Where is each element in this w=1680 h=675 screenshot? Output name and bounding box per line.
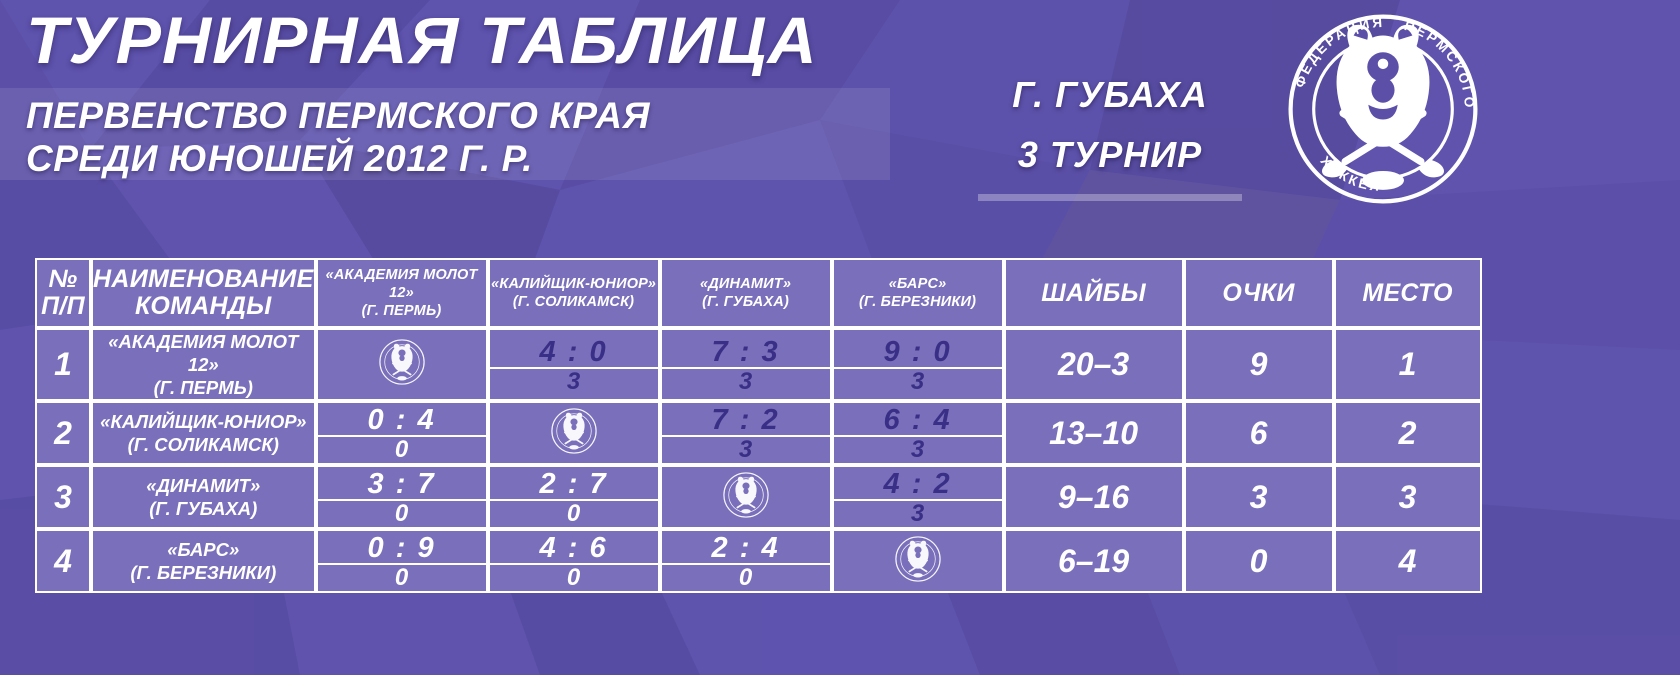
col-header-opponent-2: «КАЛИЙЩИК-ЮНИОР» (Г. СОЛИКАМСК) bbox=[488, 258, 660, 328]
row-number: 4 bbox=[35, 529, 91, 593]
col-header-opponent-1-l2: (Г. ПЕРМЬ) bbox=[318, 302, 486, 320]
match-score: 0 : 4 bbox=[318, 403, 486, 437]
match-cell[interactable]: 3 : 7 0 bbox=[316, 465, 488, 529]
match-cell-self bbox=[488, 401, 660, 465]
col-header-opponent-2-l2: (Г. СОЛИКАМСК) bbox=[490, 293, 658, 311]
row-place: 2 bbox=[1334, 401, 1482, 465]
row-points: 9 bbox=[1184, 328, 1334, 401]
row-pucks: 6–19 bbox=[1004, 529, 1184, 593]
tournament-info: Г. ГУБАХА 3 ТУРНИР bbox=[930, 72, 1290, 201]
row-team-name: «ДИНАМИТ» (Г. ГУБАХА) bbox=[91, 465, 316, 529]
table-row: 4 «БАРС» (Г. БЕРЕЗНИКИ) 0 : 9 0 4 : 6 0 … bbox=[35, 529, 1482, 593]
match-points: 3 bbox=[662, 369, 830, 395]
match-points: 0 bbox=[490, 501, 658, 527]
match-cell[interactable]: 7 : 2 3 bbox=[660, 401, 832, 465]
match-points: 3 bbox=[490, 369, 658, 395]
col-header-opponent-4-l1: «БАРС» bbox=[834, 275, 1002, 293]
match-cell[interactable]: 2 : 4 0 bbox=[660, 529, 832, 593]
col-header-place: МЕСТО bbox=[1334, 258, 1482, 328]
col-header-opponent-4-l2: (Г. БЕРЕЗНИКИ) bbox=[834, 293, 1002, 311]
match-cell[interactable]: 4 : 6 0 bbox=[488, 529, 660, 593]
match-cell[interactable]: 6 : 4 3 bbox=[832, 401, 1004, 465]
federation-logo-icon: ФЕДЕРАЦИЯ ПЕРМСКОГО КРАЯ ХОККЕЯ bbox=[1278, 4, 1488, 214]
match-points: 3 bbox=[834, 501, 1002, 527]
match-score: 2 : 7 bbox=[490, 467, 658, 501]
match-cell[interactable]: 2 : 7 0 bbox=[488, 465, 660, 529]
match-points: 0 bbox=[662, 565, 830, 591]
row-team-name-l2: (Г. ГУБАХА) bbox=[99, 497, 308, 520]
row-number: 1 bbox=[35, 328, 91, 401]
row-team-name-l2: (Г. БЕРЕЗНИКИ) bbox=[99, 561, 308, 584]
match-cell[interactable]: 9 : 0 3 bbox=[832, 328, 1004, 401]
match-cell[interactable]: 4 : 0 3 bbox=[488, 328, 660, 401]
col-header-opponent-1: «АКАДЕМИЯ МОЛОТ 12» (Г. ПЕРМЬ) bbox=[316, 258, 488, 328]
row-team-name-l2: (Г. СОЛИКАМСК) bbox=[99, 433, 308, 456]
col-header-pucks: ШАЙБЫ bbox=[1004, 258, 1184, 328]
match-points: 3 bbox=[662, 437, 830, 463]
row-place: 1 bbox=[1334, 328, 1482, 401]
match-score: 6 : 4 bbox=[834, 403, 1002, 437]
match-score: 4 : 2 bbox=[834, 467, 1002, 501]
row-pucks: 13–10 bbox=[1004, 401, 1184, 465]
match-points: 0 bbox=[318, 437, 486, 463]
page-title: ТУРНИРНАЯ ТАБЛИЦА bbox=[26, 4, 818, 76]
match-cell[interactable]: 7 : 3 3 bbox=[660, 328, 832, 401]
row-team-name: «АКАДЕМИЯ МОЛОТ 12» (Г. ПЕРМЬ) bbox=[91, 328, 316, 401]
table-row: 1 «АКАДЕМИЯ МОЛОТ 12» (Г. ПЕРМЬ) 4 : 0 3… bbox=[35, 328, 1482, 401]
row-team-name-l1: «ДИНАМИТ» bbox=[99, 474, 308, 497]
row-pucks: 20–3 bbox=[1004, 328, 1184, 401]
row-place: 3 bbox=[1334, 465, 1482, 529]
col-header-opponent-3-l2: (Г. ГУБАХА) bbox=[662, 293, 830, 311]
match-cell-self bbox=[832, 529, 1004, 593]
row-team-name-l1: «КАЛИЙЩИК-ЮНИОР» bbox=[99, 410, 308, 433]
match-cell-self bbox=[316, 328, 488, 401]
match-points: 0 bbox=[318, 565, 486, 591]
col-header-opponent-3: «ДИНАМИТ» (Г. ГУБАХА) bbox=[660, 258, 832, 328]
match-cell[interactable]: 0 : 9 0 bbox=[316, 529, 488, 593]
subtitle-line-1: ПЕРВЕНСТВО ПЕРМСКОГО КРАЯ bbox=[26, 96, 650, 136]
match-score: 9 : 0 bbox=[834, 335, 1002, 369]
match-points: 0 bbox=[318, 501, 486, 527]
table-header-row: № П/П НАИМЕНОВАНИЕ КОМАНДЫ «АКАДЕМИЯ МОЛ… bbox=[35, 258, 1482, 328]
tournament-city: Г. ГУБАХА bbox=[930, 72, 1290, 118]
col-header-opponent-4: «БАРС» (Г. БЕРЕЗНИКИ) bbox=[832, 258, 1004, 328]
col-header-number: № П/П bbox=[35, 258, 91, 328]
table-body: 1 «АКАДЕМИЯ МОЛОТ 12» (Г. ПЕРМЬ) 4 : 0 3… bbox=[35, 328, 1482, 593]
match-points: 0 bbox=[490, 565, 658, 591]
table-row: 2 «КАЛИЙЩИК-ЮНИОР» (Г. СОЛИКАМСК) 0 : 4 … bbox=[35, 401, 1482, 465]
row-number: 2 bbox=[35, 401, 91, 465]
row-points: 0 bbox=[1184, 529, 1334, 593]
row-team-name: «КАЛИЙЩИК-ЮНИОР» (Г. СОЛИКАМСК) bbox=[91, 401, 316, 465]
match-cell[interactable]: 4 : 2 3 bbox=[832, 465, 1004, 529]
match-cell-self bbox=[660, 465, 832, 529]
row-number: 3 bbox=[35, 465, 91, 529]
match-score: 3 : 7 bbox=[318, 467, 486, 501]
col-header-team: НАИМЕНОВАНИЕ КОМАНДЫ bbox=[91, 258, 316, 328]
tournament-number: 3 ТУРНИР bbox=[930, 132, 1290, 178]
row-pucks: 9–16 bbox=[1004, 465, 1184, 529]
match-score: 4 : 6 bbox=[490, 531, 658, 565]
row-team-name-l1: «БАРС» bbox=[99, 538, 308, 561]
col-header-points: ОЧКИ bbox=[1184, 258, 1334, 328]
row-team-name-l2: (Г. ПЕРМЬ) bbox=[99, 376, 308, 399]
match-points: 3 bbox=[834, 369, 1002, 395]
match-score: 0 : 9 bbox=[318, 531, 486, 565]
col-header-team-l2: КОМАНДЫ bbox=[93, 293, 314, 320]
standings-table: № П/П НАИМЕНОВАНИЕ КОМАНДЫ «АКАДЕМИЯ МОЛ… bbox=[35, 258, 1482, 593]
standings-table-wrapper: № П/П НАИМЕНОВАНИЕ КОМАНДЫ «АКАДЕМИЯ МОЛ… bbox=[35, 258, 1482, 593]
col-header-opponent-3-l1: «ДИНАМИТ» bbox=[662, 275, 830, 293]
table-row: 3 «ДИНАМИТ» (Г. ГУБАХА) 3 : 7 0 2 : 7 0 bbox=[35, 465, 1482, 529]
row-team-name: «БАРС» (Г. БЕРЕЗНИКИ) bbox=[91, 529, 316, 593]
match-cell[interactable]: 0 : 4 0 bbox=[316, 401, 488, 465]
col-header-number-l1: № bbox=[37, 266, 89, 293]
match-points: 3 bbox=[834, 437, 1002, 463]
row-place: 4 bbox=[1334, 529, 1482, 593]
col-header-number-l2: П/П bbox=[37, 293, 89, 320]
col-header-opponent-2-l1: «КАЛИЙЩИК-ЮНИОР» bbox=[490, 275, 658, 293]
match-score: 7 : 3 bbox=[662, 335, 830, 369]
row-points: 6 bbox=[1184, 401, 1334, 465]
row-team-name-l1: «АКАДЕМИЯ МОЛОТ 12» bbox=[99, 330, 308, 376]
col-header-team-l1: НАИМЕНОВАНИЕ bbox=[93, 266, 314, 293]
match-score: 4 : 0 bbox=[490, 335, 658, 369]
col-header-opponent-1-l1: «АКАДЕМИЯ МОЛОТ 12» bbox=[318, 266, 486, 302]
subtitle-line-2: СРЕДИ ЮНОШЕЙ 2012 Г. Р. bbox=[26, 139, 533, 179]
tournament-underline bbox=[978, 194, 1242, 201]
poster-header: ТУРНИРНАЯ ТАБЛИЦА ПЕРВЕНСТВО ПЕРМСКОГО К… bbox=[0, 0, 1680, 240]
match-score: 7 : 2 bbox=[662, 403, 830, 437]
match-score: 2 : 4 bbox=[662, 531, 830, 565]
row-points: 3 bbox=[1184, 465, 1334, 529]
